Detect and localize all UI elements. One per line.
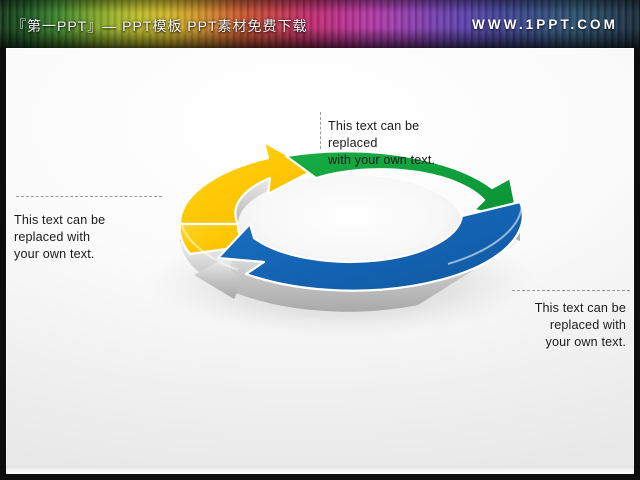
banner-brand-text: 『第一PPT』— PPT模板 PPT素材免费下载 xyxy=(12,16,307,36)
presentation-slide: 『第一PPT』— PPT模板 PPT素材免费下载 WWW.1PPT.COM xyxy=(0,0,640,480)
banner-site-url: WWW.1PPT.COM xyxy=(472,17,618,32)
canvas-floor-band xyxy=(6,466,634,474)
text-block-top[interactable]: This text can be replaced with your own … xyxy=(328,118,435,169)
text-block-left[interactable]: This text can be replaced with your own … xyxy=(14,212,105,263)
text-block-right[interactable]: This text can be replaced with your own … xyxy=(535,300,626,351)
